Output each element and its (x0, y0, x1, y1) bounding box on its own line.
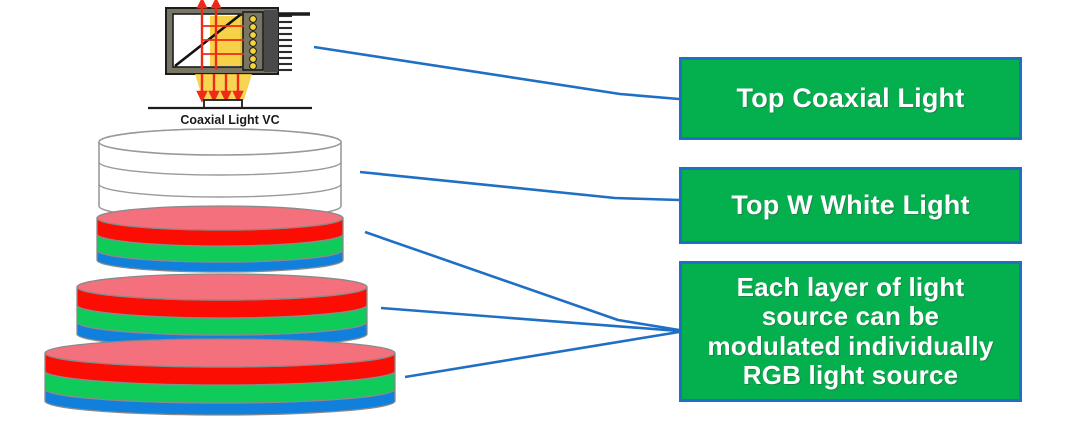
connector-rgb-3 (405, 332, 679, 377)
callout-3-line-4: RGB light source (743, 361, 959, 390)
callout-2-label: Top W White Light (731, 190, 969, 220)
connector-rgb-2 (381, 308, 679, 331)
rgb2-top-surface (77, 274, 367, 300)
connector-white (360, 172, 679, 200)
rgb1-top-surface (97, 206, 343, 230)
heatsink-fins-icon (278, 16, 292, 70)
callout-3-line-1: Each layer of light (737, 273, 965, 302)
callout-1-label: Top Coaxial Light (737, 83, 965, 113)
connector-coaxial (314, 47, 679, 99)
callout-top-coaxial-light[interactable]: Top Coaxial Light (679, 57, 1022, 140)
callout-3-line-3: modulated individually (707, 332, 993, 361)
sample-block (204, 100, 242, 108)
heatsink-block (264, 10, 278, 72)
device-caption: Coaxial Light VC (140, 113, 320, 127)
rgb-layer-3 (40, 337, 400, 429)
diagram-canvas: Coaxial Light VC Top Coaxial Light Top W… (0, 0, 1065, 430)
callout-3-line-2: source can be (762, 302, 939, 331)
callout-top-w-white-light[interactable]: Top W White Light (679, 167, 1022, 244)
connector-rgb-1 (365, 232, 679, 330)
callout-rgb-modulation[interactable]: Each layer of light source can be modula… (679, 261, 1022, 402)
rgb3-top-surface (45, 339, 395, 367)
